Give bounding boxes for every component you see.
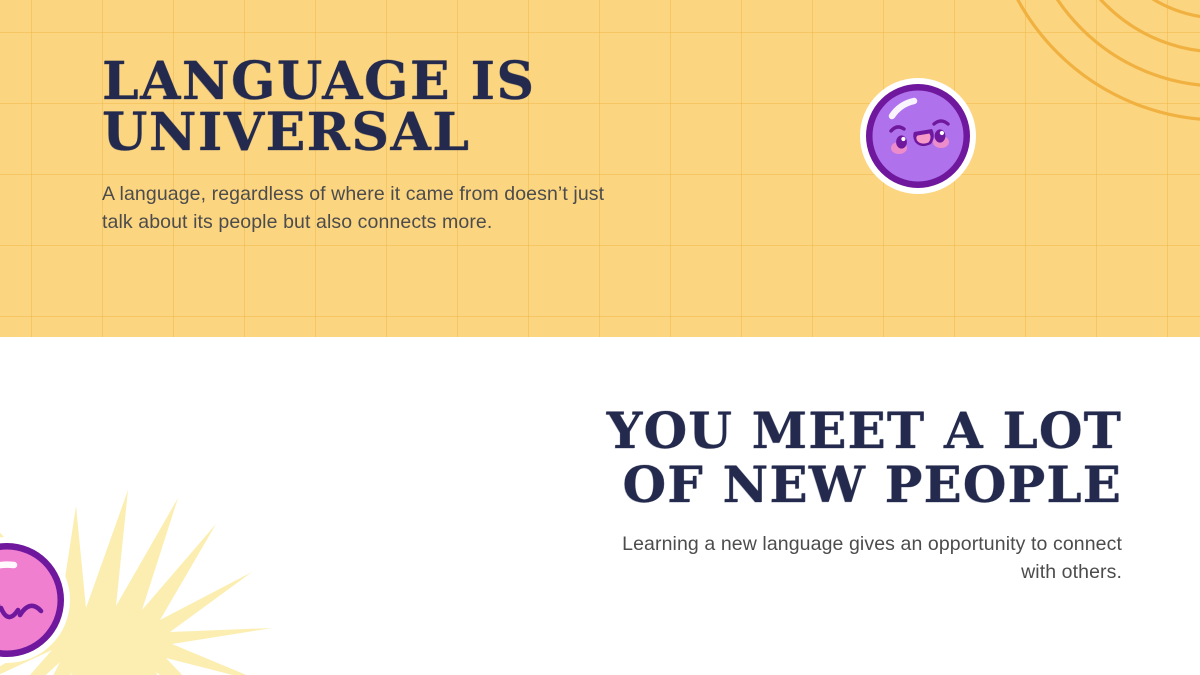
page-title-top: Language is Universal [102, 56, 662, 159]
title-line-1: You meet a lot [592, 404, 1122, 458]
top-headline-block: Language is Universal A language, regard… [102, 56, 662, 237]
bottom-body-text: Learning a new language gives an opportu… [592, 530, 1122, 587]
top-body-text: A language, regardless of where it came … [102, 180, 622, 237]
bottom-headline-block: You meet a lot of new people Learning a … [592, 404, 1122, 587]
title-line-1: Language is [102, 56, 662, 107]
purple-smiling-face-emoji [858, 76, 978, 196]
top-yellow-band: Language is Universal A language, regard… [0, 0, 1200, 337]
title-line-2: of new people [592, 458, 1122, 512]
slide-canvas: Language is Universal A language, regard… [0, 0, 1200, 675]
pink-happy-face-emoji [0, 535, 72, 665]
title-line-2: Universal [102, 107, 662, 158]
page-title-bottom: You meet a lot of new people [592, 404, 1122, 512]
